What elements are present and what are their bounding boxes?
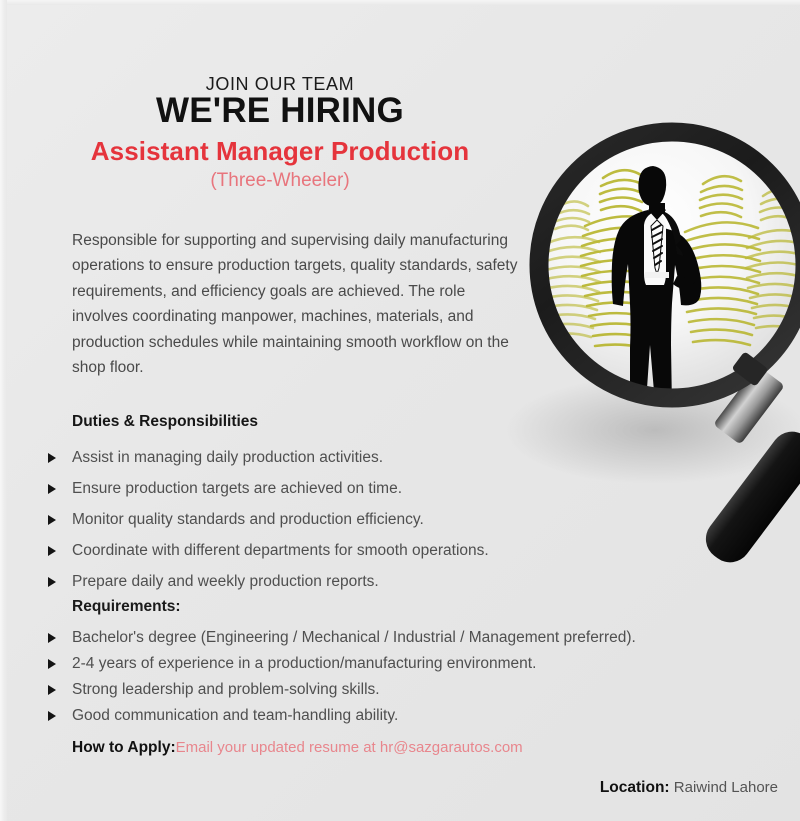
list-item: Coordinate with different departments fo… — [48, 535, 748, 566]
list-item: Monitor quality standards and production… — [48, 504, 748, 535]
list-item-text: Strong leadership and problem-solving sk… — [72, 681, 380, 698]
list-item: Good communication and team-handling abi… — [48, 703, 748, 729]
list-item-text: Prepare daily and weekly production repo… — [72, 573, 379, 590]
duties-heading: Duties & Responsibilities — [72, 413, 258, 431]
location-line: Location: Raiwind Lahore — [600, 779, 778, 797]
headline-were-hiring: WE'RE HIRING — [0, 91, 560, 131]
how-to-apply: How to Apply:Email your updated resume a… — [72, 739, 523, 757]
triangle-bullet-icon — [48, 633, 56, 643]
page-top-edge — [0, 0, 800, 5]
triangle-bullet-icon — [48, 453, 56, 463]
list-item: Assist in managing daily production acti… — [48, 442, 748, 473]
triangle-bullet-icon — [48, 577, 56, 587]
list-item: Ensure production targets are achieved o… — [48, 473, 748, 504]
triangle-bullet-icon — [48, 711, 56, 721]
requirements-heading: Requirements: — [72, 598, 181, 616]
triangle-bullet-icon — [48, 659, 56, 669]
triangle-bullet-icon — [48, 484, 56, 494]
list-item-text: Ensure production targets are achieved o… — [72, 480, 402, 497]
triangle-bullet-icon — [48, 685, 56, 695]
triangle-bullet-icon — [48, 515, 56, 525]
list-item-text: Coordinate with different departments fo… — [72, 542, 489, 559]
location-value: Raiwind Lahore — [674, 779, 778, 796]
list-item: Prepare daily and weekly production repo… — [48, 566, 748, 597]
requirements-list: Bachelor's degree (Engineering / Mechani… — [48, 625, 748, 729]
job-title: Assistant Manager Production — [0, 136, 560, 167]
job-description-paragraph: Responsible for supporting and supervisi… — [72, 228, 524, 381]
list-item-text: 2-4 years of experience in a production/… — [72, 655, 536, 672]
list-item-text: Good communication and team-handling abi… — [72, 707, 398, 724]
duties-list: Assist in managing daily production acti… — [48, 442, 748, 597]
list-item: Strong leadership and problem-solving sk… — [48, 677, 748, 703]
how-to-apply-value[interactable]: Email your updated resume at hr@sazgarau… — [176, 739, 523, 756]
list-item: Bachelor's degree (Engineering / Mechani… — [48, 625, 748, 651]
job-posting-poster: JOIN OUR TEAM WE'RE HIRING Assistant Man… — [0, 0, 800, 821]
how-to-apply-label: How to Apply: — [72, 739, 176, 756]
triangle-bullet-icon — [48, 546, 56, 556]
job-title-subtitle: (Three-Wheeler) — [0, 170, 560, 192]
location-label: Location: — [600, 779, 670, 796]
list-item-text: Monitor quality standards and production… — [72, 511, 424, 528]
list-item: 2-4 years of experience in a production/… — [48, 651, 748, 677]
list-item-text: Bachelor's degree (Engineering / Mechani… — [72, 629, 636, 646]
list-item-text: Assist in managing daily production acti… — [72, 449, 383, 466]
